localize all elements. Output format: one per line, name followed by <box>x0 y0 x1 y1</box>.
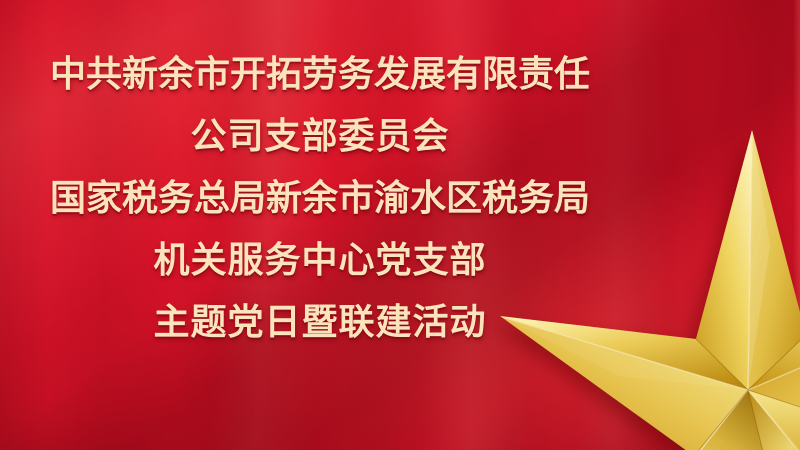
headline-line-3: 国家税务总局新余市渝水区税务局 <box>46 168 594 230</box>
headline-block: 中共新余市开拓劳务发展有限责任 公司支部委员会 国家税务总局新余市渝水区税务局 … <box>46 44 594 354</box>
headline-line-5: 主题党日暨联建活动 <box>46 292 594 354</box>
headline-line-4: 机关服务中心党支部 <box>46 230 594 292</box>
poster-canvas: 中共新余市开拓劳务发展有限责任 公司支部委员会 国家税务总局新余市渝水区税务局 … <box>0 0 800 450</box>
headline-line-2: 公司支部委员会 <box>46 106 594 168</box>
headline-line-1: 中共新余市开拓劳务发展有限责任 <box>46 44 594 106</box>
